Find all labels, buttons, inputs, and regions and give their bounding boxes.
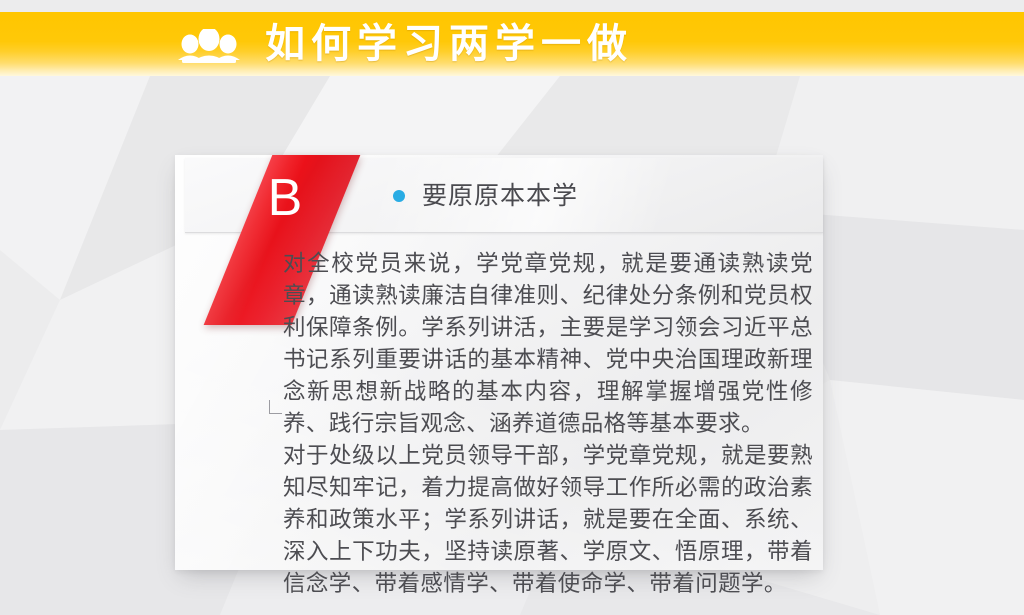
section-badge-letter: B (255, 168, 315, 228)
body-paragraph-1: 对全校党员来说，学党章党规，就是要通读熟读党章，通读熟读廉洁自律准则、纪律处分条… (283, 248, 813, 440)
group-people-icon (178, 29, 240, 63)
slide-title-band: 如何学习两学一做 (0, 12, 1024, 76)
bullet-dot-icon (393, 190, 405, 202)
presentation-slide: 如何学习两学一做 B 要原原本本学 对全校党员来说，学党章党规，就是要通读熟读党… (0, 0, 1024, 615)
body-paragraph-2: 对于处级以上党员领导干部，学党章党规，就是要熟知尽知牢记，着力提高做好领导工作所… (283, 440, 813, 600)
textbox-corner-handle (269, 400, 282, 414)
page-title: 如何学习两学一做 (265, 16, 633, 72)
section-heading-text: 要原原本本学 (422, 180, 578, 212)
body-text-block: 对全校党员来说，学党章党规，就是要通读熟读党章，通读熟读廉洁自律准则、纪律处分条… (283, 248, 813, 600)
section-heading: 要原原本本学 (393, 180, 578, 212)
